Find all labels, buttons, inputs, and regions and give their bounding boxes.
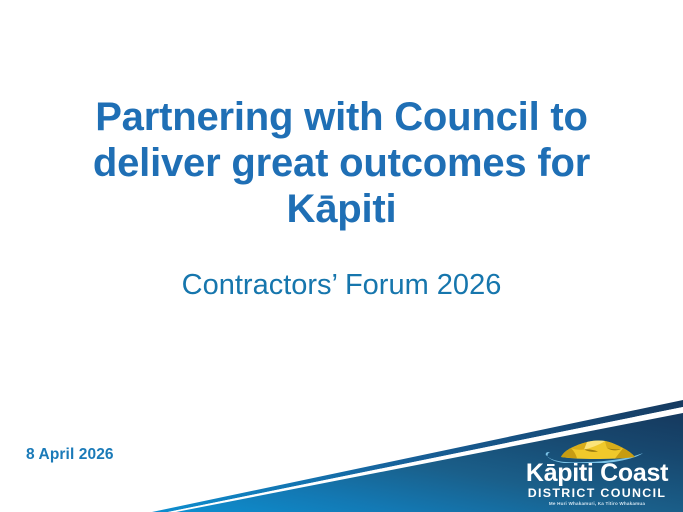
title-line-1: Partnering with Council to bbox=[40, 94, 643, 140]
slide-date: 8 April 2026 bbox=[26, 446, 114, 464]
slide-subtitle: Contractors’ Forum 2026 bbox=[0, 268, 683, 302]
page-title: Partnering with Council to deliver great… bbox=[0, 94, 683, 232]
logo-subword: DISTRICT COUNCIL bbox=[523, 486, 671, 500]
kapiti-coast-district-council-logo: Kāpiti Coast DISTRICT COUNCIL Me Huri Wh… bbox=[523, 437, 671, 507]
title-line-2: deliver great outcomes for bbox=[40, 140, 643, 186]
logo-wordmark: Kāpiti Coast bbox=[523, 461, 671, 486]
logo-motto: Me Huri Whakamuri, Ka Titiro Whakamua bbox=[523, 500, 671, 507]
title-slide: Partnering with Council to deliver great… bbox=[0, 0, 683, 512]
slide-title-block: Partnering with Council to deliver great… bbox=[0, 94, 683, 232]
title-line-3: Kāpiti bbox=[40, 186, 643, 232]
